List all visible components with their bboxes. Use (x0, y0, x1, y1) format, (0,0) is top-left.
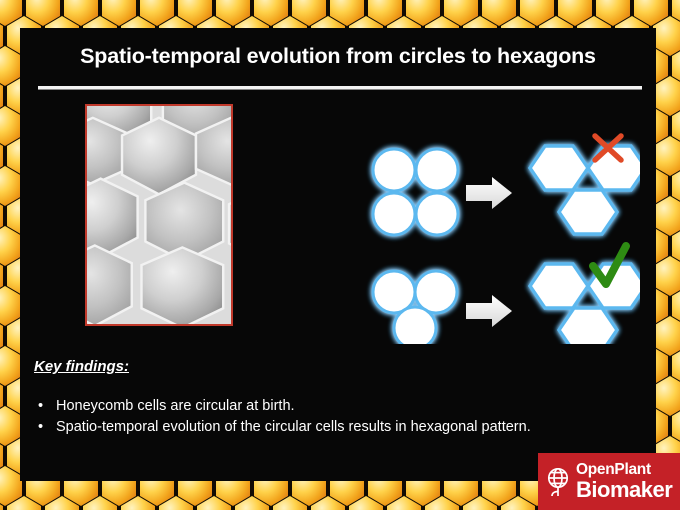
logo-line-biomaker: Biomaker (576, 479, 672, 501)
openplant-biomaker-logo: OpenPlant Biomaker (538, 453, 680, 510)
bullet-icon: • (38, 417, 56, 438)
transform-arrow-top (466, 177, 512, 209)
title-divider (38, 86, 642, 89)
presentation-slide: Spatio-temporal evolution from circles t… (0, 0, 680, 510)
transform-arrow-bottom (466, 295, 512, 327)
openplant-globe-icon (543, 466, 573, 498)
honeycomb-micrograph (85, 104, 233, 326)
page-title: Spatio-temporal evolution from circles t… (20, 44, 656, 69)
bullet-icon: • (38, 396, 56, 417)
slide-content-area: Spatio-temporal evolution from circles t… (20, 28, 656, 481)
square-packing-circles (373, 149, 458, 235)
key-findings-heading: Key findings: (34, 358, 129, 375)
hex-packing-circles (373, 271, 457, 344)
key-findings-list: • Honeycomb cells are circular at birth.… (38, 396, 648, 438)
list-item: • Spatio-temporal evolution of the circu… (38, 417, 648, 438)
list-item-label: Honeycomb cells are circular at birth. (56, 396, 295, 417)
list-item: • Honeycomb cells are circular at birth. (38, 396, 648, 417)
list-item-label: Spatio-temporal evolution of the circula… (56, 417, 531, 438)
hex-packing-hexagons (530, 264, 640, 344)
circle-to-hexagon-diagram (340, 94, 640, 344)
logo-line-openplant: OpenPlant (576, 462, 672, 478)
logo-wordmark: OpenPlant Biomaker (576, 462, 672, 502)
